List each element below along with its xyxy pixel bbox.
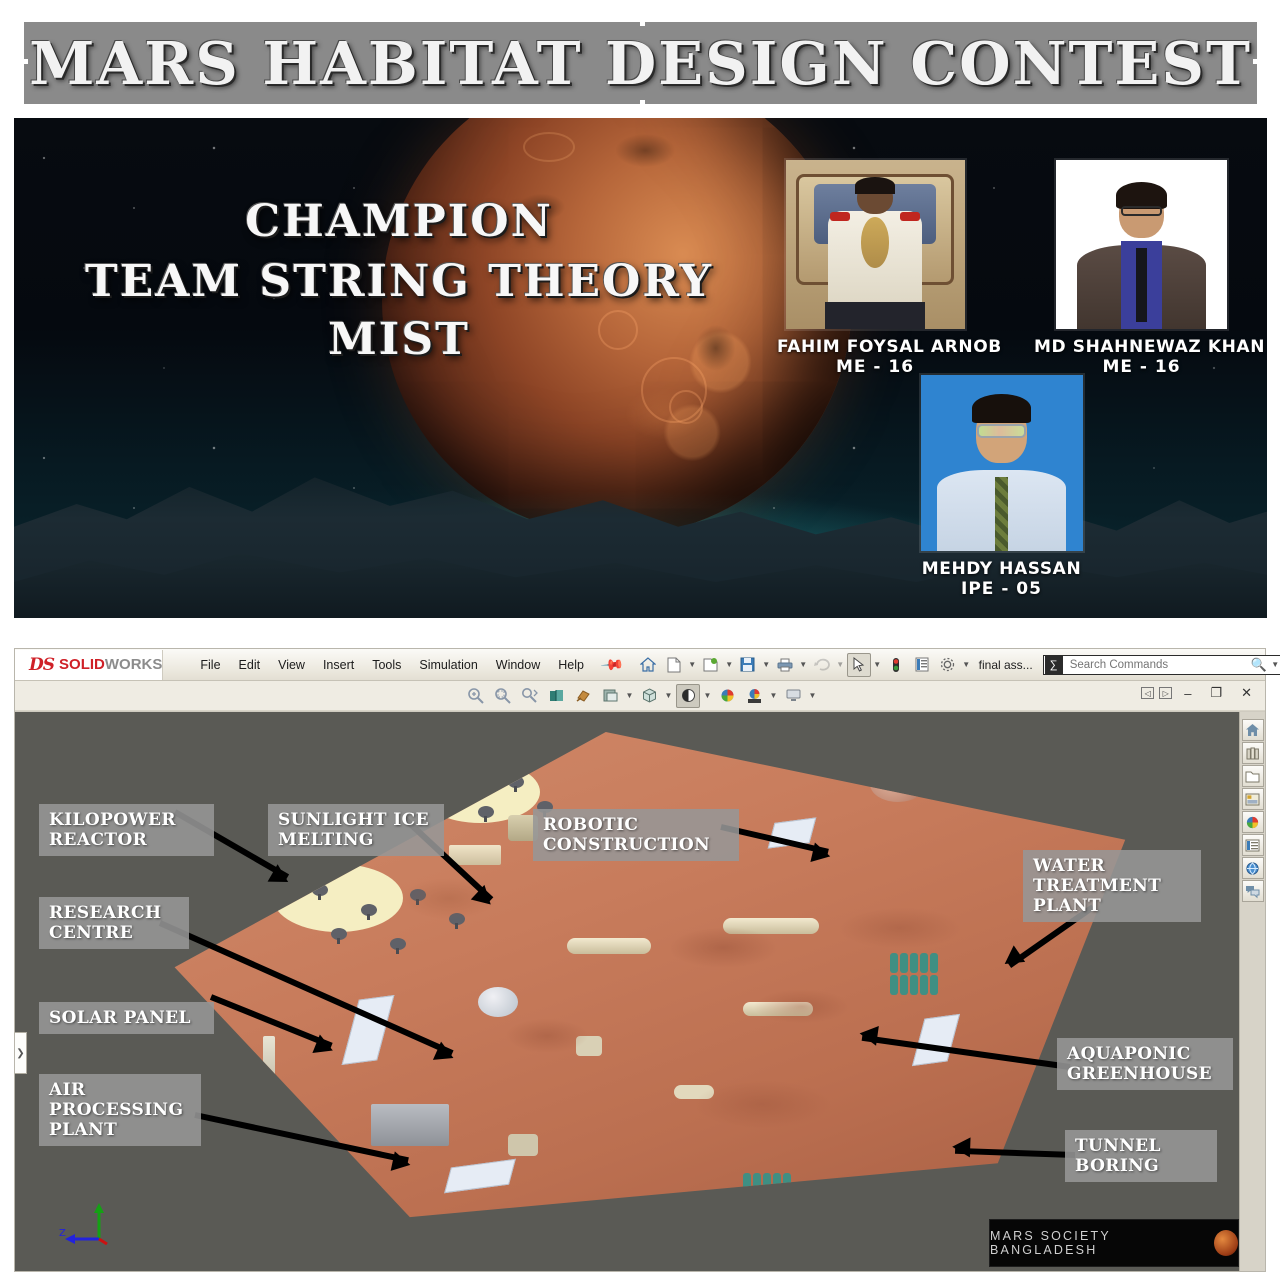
hair [855,177,894,194]
callout-line-2: CENTRE [49,923,179,943]
expand-panel-icon[interactable]: ❯ [15,1032,27,1074]
banner-notch-bottom [640,100,645,108]
vegetation-pod [459,781,475,793]
callout-research-centre: RESEARCH CENTRE [39,897,189,949]
research-centre-module [449,845,501,865]
aiguillette-cord [861,217,890,268]
callout-sunlight-ice-melting: SUNLIGHT ICE MELTING [268,804,444,856]
chevron-down-icon[interactable]: ▼ [873,660,882,669]
search-input[interactable] [1064,659,1247,671]
display-style-icon[interactable] [676,684,700,708]
vegetation-pod [361,904,377,916]
chevron-down-icon[interactable]: ▼ [664,691,673,700]
water-tank [508,1134,538,1156]
save-icon[interactable] [736,653,760,677]
chevron-down-icon[interactable]: ▼ [762,660,771,669]
view-toolbar: ▼ ▼ ▼ ▼ ▼ ◁ ▷ – ❐ [15,681,1265,711]
chevron-down-icon[interactable]: ▼ [625,691,634,700]
mars-society-logo [1214,1230,1238,1256]
chevron-down-icon[interactable]: ▼ [808,691,817,700]
callout-aquaponic-greenhouse: AQUAPONIC GREENHOUSE [1057,1038,1233,1090]
3d-viewport[interactable]: KILOPOWER REACTOR RESEARCH CENTRE SOLAR … [15,711,1265,1271]
rebuild-icon[interactable] [884,653,908,677]
chevron-down-icon[interactable]: ▼ [769,691,778,700]
crater-ring-4 [523,132,575,162]
banner-notch-right [1253,59,1261,64]
callout-line-1: AIR [49,1080,191,1100]
aquaponic-greenhouse-pods [890,953,938,995]
zoom-to-fit-icon[interactable] [463,684,487,708]
member-card-2: MD SHAHNEWAZ KHAN ME - 16 [1034,158,1249,377]
eyeglasses [977,424,1026,438]
avatar [1054,158,1229,331]
callout-line-1: RESEARCH [49,903,179,923]
avatar [784,158,967,331]
search-commands-box[interactable]: ∑ 🔍 ▼ [1043,655,1280,675]
apply-scene-icon[interactable] [715,684,739,708]
next-view-button[interactable]: ▷ [1159,687,1172,699]
search-icon[interactable]: 🔍 [1247,657,1271,673]
zoom-to-area-icon[interactable] [490,684,514,708]
member-name: MD SHAHNEWAZ KHAN [1034,337,1249,357]
view-palette-icon[interactable] [1242,788,1264,810]
air-processing-plant-module [371,1104,449,1146]
chevron-down-icon[interactable]: ▼ [725,660,734,669]
callout-line-1: SOLAR PANEL [49,1008,204,1028]
member-card-3: MEHDY HASSAN IPE - 05 [894,373,1109,599]
vegetation-pod [312,884,328,896]
zoom-in-out-icon[interactable] [517,684,541,708]
callout-line-2: GREENHOUSE [1067,1064,1223,1084]
home-icon[interactable] [636,653,660,677]
select-icon[interactable] [847,653,871,677]
menu-edit[interactable]: Edit [230,654,270,676]
callout-solar-panel: SOLAR PANEL [39,1002,214,1034]
options-list-icon[interactable] [910,653,934,677]
water-tank [576,1036,602,1056]
banner-notch-top [640,18,645,26]
ds-logo-icon: DS [29,655,54,675]
portrait-illustration-1 [786,160,965,329]
svg-text:Z: Z [59,1228,66,1239]
chevron-down-icon[interactable]: ▼ [962,660,971,669]
logo-solid-text: SOLID [59,656,105,673]
chevron-down-icon[interactable]: ▼ [703,691,712,700]
callout-line-2: BORING [1075,1156,1207,1176]
poster-section: MARS HABITAT DESIGN CONTEST CHAMPION TEA… [0,0,1280,630]
banner-notch-left [20,59,28,64]
solidworks-resources-icon[interactable] [1242,719,1264,741]
document-minimize-button[interactable]: – [1177,686,1198,701]
document-restore-button[interactable]: ❐ [1203,685,1229,701]
menu-insert[interactable]: Insert [314,654,363,676]
chevron-down-icon[interactable]: ▼ [1271,660,1280,669]
habitat-module-row [723,918,819,934]
custom-properties-icon[interactable] [1242,834,1264,856]
solidworks-window: DS SOLID WORKS File Edit View Insert Too… [14,648,1266,1272]
callout-line-1: ROBOTIC [543,815,729,835]
rotate-view-icon[interactable] [544,684,568,708]
avatar [919,373,1085,553]
eyeglasses [1121,206,1162,216]
solar-panel-array [444,1159,516,1193]
trousers [825,302,925,329]
callout-line-3: PLANT [1033,896,1191,916]
hair [972,394,1030,422]
document-window-buttons: ◁ ▷ – ❐ ✕ [1141,685,1259,701]
tower-structure [263,1036,275,1102]
dome-structure [478,987,518,1017]
print-icon[interactable] [773,653,797,677]
callout-line-1: WATER [1033,856,1191,876]
previous-view-button[interactable]: ◁ [1141,687,1154,699]
active-document-name[interactable]: final ass... [979,658,1033,672]
necktie [1136,248,1146,322]
solidworks-logo: DS SOLID WORKS [15,650,163,680]
search-commands-icon: ∑ [1045,656,1063,674]
callout-line-2: REACTOR [49,830,204,850]
design-library-icon[interactable] [1242,742,1264,764]
open-document-icon[interactable] [699,653,723,677]
vegetation-pod [410,889,426,901]
poster-artwork: CHAMPION TEAM STRING THEORY MIST [14,118,1267,618]
callout-line-2: TREATMENT [1033,876,1191,896]
chevron-down-icon[interactable]: ▼ [799,660,808,669]
dome-structure [870,766,926,802]
menu-bar: DS SOLID WORKS File Edit View Insert Too… [15,649,1265,681]
vegetation-pod [508,776,524,788]
coordinate-triad: Z [57,1191,127,1245]
settings-gear-icon[interactable] [936,653,960,677]
solar-panel-array [912,1014,960,1066]
callout-line-2: CONSTRUCTION [543,835,729,855]
vegetation-pod [331,928,347,940]
logo-works-text: WORKS [105,656,163,673]
member-name: FAHIM FOYSAL ARNOB [777,337,973,357]
callout-line-1: SUNLIGHT ICE [278,810,434,830]
display-pane-icon[interactable] [781,684,805,708]
habitat-module-row [567,938,651,954]
vegetation-pod [449,913,465,925]
robotic-arm-unit [821,752,867,768]
chevron-down-icon[interactable]: ▼ [836,660,845,669]
document-close-button[interactable]: ✕ [1234,685,1259,701]
callout-line-1: TUNNEL [1075,1136,1207,1156]
quick-access-toolbar: ▼ ▼ ▼ ▼ ▼ ▼ [636,653,1280,677]
member-name: MEHDY HASSAN [894,559,1109,579]
solidworks-forum-icon[interactable] [1242,880,1264,902]
view-orientation-icon[interactable] [637,684,661,708]
champion-text-block: CHAMPION TEAM STRING THEORY MIST [54,196,744,366]
mars-society-watermark: MARS SOCIETY BANGLADESH [989,1219,1239,1267]
epaulette-left [830,212,850,220]
menu-tools[interactable]: Tools [363,654,410,676]
callout-air-processing-plant: AIR PROCESSING PLANT [39,1074,201,1146]
watermark-text: MARS SOCIETY BANGLADESH [990,1229,1206,1257]
school-tie [995,477,1008,551]
menu-view[interactable]: View [269,654,314,676]
aquaponic-greenhouse-pods [743,1173,791,1215]
task-pane [1239,712,1265,1271]
vegetation-pod [478,806,494,818]
menu-window[interactable]: Window [487,654,549,676]
section-view-icon[interactable] [598,684,622,708]
appearances-scenes-icon[interactable] [1242,811,1264,833]
new-document-icon[interactable] [662,653,686,677]
pin-icon[interactable]: 📌 [599,652,625,678]
screenshot-root: MARS HABITAT DESIGN CONTEST CHAMPION TEA… [0,0,1280,1280]
page-title: MARS HABITAT DESIGN CONTEST [24,22,1257,104]
callout-kilopower-reactor: KILOPOWER REACTOR [39,804,214,856]
callout-line-1: KILOPOWER [49,810,204,830]
callout-water-treatment-plant: WATER TREATMENT PLANT [1023,850,1201,922]
landing-pad [194,1124,314,1178]
portrait-illustration-2 [1056,160,1227,329]
callout-line-3: PLANT [49,1120,191,1140]
portrait-illustration-3 [921,375,1083,551]
institution-label: MIST [54,314,744,366]
champion-label: CHAMPION [54,196,744,248]
callout-tunnel-boring: TUNNEL BORING [1065,1130,1217,1182]
menu-simulation[interactable]: Simulation [410,654,486,676]
member-card-1: FAHIM FOYSAL ARNOB ME - 16 [777,158,973,377]
hair [1116,182,1167,209]
3d-content-central-icon[interactable] [1242,857,1264,879]
member-dept: IPE - 05 [894,579,1109,599]
habitat-module-row [743,1002,813,1016]
menu-help[interactable]: Help [549,654,593,676]
team-name-label: TEAM STRING THEORY [54,256,744,308]
callout-line-2: MELTING [278,830,434,850]
menu-file[interactable]: File [191,654,229,676]
file-explorer-icon[interactable] [1242,765,1264,787]
view-settings-icon[interactable] [742,684,766,708]
undo-icon [810,653,834,677]
callout-robotic-construction: ROBOTIC CONSTRUCTION [533,809,739,861]
callout-line-2: PROCESSING [49,1100,191,1120]
rover-vehicle [674,1085,714,1099]
chevron-down-icon[interactable]: ▼ [688,660,697,669]
epaulette-right [900,212,920,220]
callout-line-1: AQUAPONIC [1067,1044,1223,1064]
pan-icon[interactable] [571,684,595,708]
vegetation-pod [390,938,406,950]
banner-bar: MARS HABITAT DESIGN CONTEST [24,22,1257,104]
